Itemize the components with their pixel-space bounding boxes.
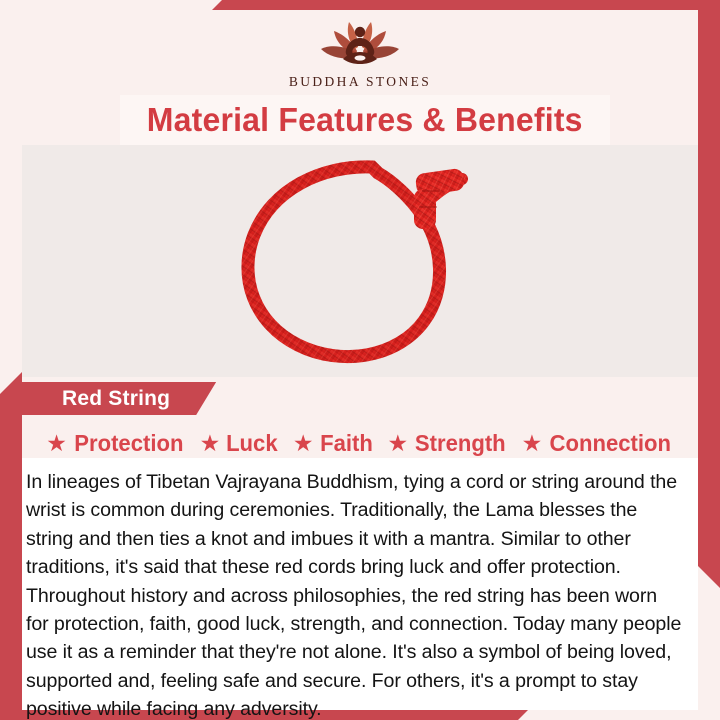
red-braided-string-bracelet-image bbox=[210, 145, 510, 377]
product-tag-row: Red String bbox=[22, 377, 698, 417]
card-surface: BUDDHA STONES Material Features & Benefi… bbox=[22, 10, 698, 710]
feature-label: Connection bbox=[550, 430, 671, 457]
infographic-card: BUDDHA STONES Material Features & Benefi… bbox=[0, 0, 720, 720]
frame-band-right bbox=[698, 10, 720, 588]
brand-logo: BUDDHA STONES bbox=[22, 10, 698, 95]
page-title: Material Features & Benefits bbox=[147, 101, 583, 139]
product-tag: Red String bbox=[22, 382, 216, 415]
feature-item-connection: ★ Connection bbox=[522, 430, 674, 457]
title-banner: Material Features & Benefits bbox=[120, 95, 610, 145]
feature-label: Protection bbox=[74, 430, 183, 457]
feature-item-protection: ★ Protection bbox=[46, 430, 185, 457]
feature-label: Strength bbox=[415, 430, 506, 457]
frame-band-left bbox=[0, 372, 22, 710]
product-tag-label: Red String bbox=[62, 387, 170, 411]
feature-label: Luck bbox=[226, 430, 278, 457]
description-text: In lineages of Tibetan Vajrayana Buddhis… bbox=[26, 468, 682, 720]
feature-item-luck: ★ Luck bbox=[200, 430, 279, 457]
star-icon: ★ bbox=[46, 432, 67, 455]
star-icon: ★ bbox=[200, 432, 221, 455]
feature-item-strength: ★ Strength bbox=[387, 430, 507, 457]
product-image-stage bbox=[22, 145, 698, 377]
feature-item-faith: ★ Faith bbox=[293, 430, 374, 457]
star-icon: ★ bbox=[387, 432, 408, 455]
description-panel: In lineages of Tibetan Vajrayana Buddhis… bbox=[22, 458, 698, 710]
feature-label: Faith bbox=[320, 430, 373, 457]
star-icon: ★ bbox=[293, 432, 314, 455]
lotus-meditation-figure-icon bbox=[312, 18, 408, 72]
star-icon: ★ bbox=[522, 432, 543, 455]
brand-wordmark: BUDDHA STONES bbox=[289, 74, 431, 90]
